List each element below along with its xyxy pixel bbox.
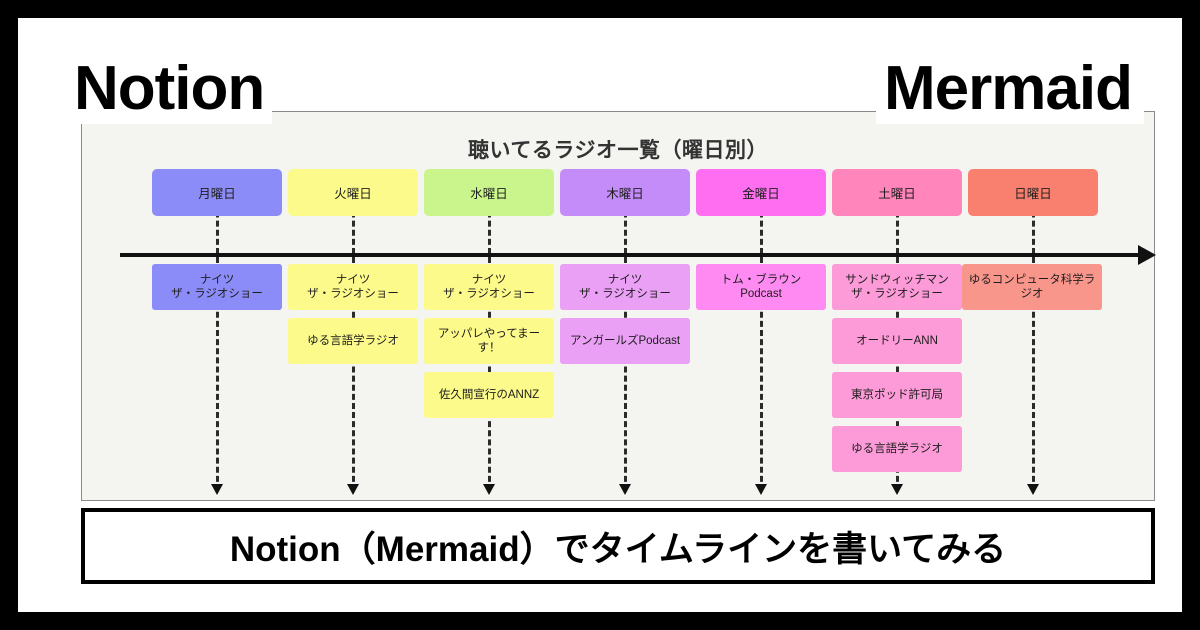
event-box-wednesday-3[interactable]: 佐久間宣行のANNZ — [424, 372, 554, 418]
event-box-tuesday-2[interactable]: ゆる言語学ラジオ — [288, 318, 418, 364]
mermaid-timeline-diagram: 聴いてるラジオ一覧（曜日別） 月曜日ナイツ ザ・ラジオショー火曜日ナイツ ザ・ラ… — [81, 111, 1155, 501]
diagram-title: 聴いてるラジオ一覧（曜日別） — [82, 134, 1154, 164]
event-box-thursday-1[interactable]: ナイツ ザ・ラジオショー — [560, 264, 690, 310]
event-box-tuesday-1[interactable]: ナイツ ザ・ラジオショー — [288, 264, 418, 310]
day-header-sunday[interactable]: 日曜日 — [968, 169, 1098, 216]
event-box-monday-1[interactable]: ナイツ ザ・ラジオショー — [152, 264, 282, 310]
timeline-dashed-line-sunday — [1032, 175, 1035, 491]
day-header-label: 月曜日 — [198, 183, 236, 202]
brand-notion: Notion — [62, 58, 272, 124]
timeline-dash-arrowhead-wednesday — [483, 484, 495, 495]
day-header-label: 金曜日 — [742, 183, 780, 202]
event-box-thursday-2[interactable]: アンガールズPodcast — [560, 318, 690, 364]
day-header-label: 火曜日 — [334, 183, 372, 202]
day-header-label: 木曜日 — [606, 183, 644, 202]
timeline-dashed-line-monday — [216, 175, 219, 491]
day-header-label: 土曜日 — [878, 183, 916, 202]
event-box-saturday-1[interactable]: サンドウィッチマン ザ・ラジオショー — [832, 264, 962, 310]
brand-mermaid: Mermaid — [876, 58, 1144, 124]
caption-text: Notion（Mermaid）でタイムラインを書いてみる — [230, 521, 1006, 572]
timeline-dash-arrowhead-saturday — [891, 484, 903, 495]
event-box-saturday-4[interactable]: ゆる言語学ラジオ — [832, 426, 962, 472]
day-header-saturday[interactable]: 土曜日 — [832, 169, 962, 216]
event-box-friday-1[interactable]: トム・ブラウンPodcast — [696, 264, 826, 310]
event-box-saturday-2[interactable]: オードリーANN — [832, 318, 962, 364]
day-header-friday[interactable]: 金曜日 — [696, 169, 826, 216]
white-page: 聴いてるラジオ一覧（曜日別） 月曜日ナイツ ザ・ラジオショー火曜日ナイツ ザ・ラ… — [18, 18, 1182, 612]
day-header-tuesday[interactable]: 火曜日 — [288, 169, 418, 216]
timeline-axis-line — [120, 253, 1145, 257]
event-box-sunday-1[interactable]: ゆるコンピュータ科学ラジオ — [962, 264, 1102, 310]
timeline-dashed-line-friday — [760, 175, 763, 491]
screenshot-canvas: 聴いてるラジオ一覧（曜日別） 月曜日ナイツ ザ・ラジオショー火曜日ナイツ ザ・ラ… — [0, 0, 1200, 630]
timeline-dash-arrowhead-thursday — [619, 484, 631, 495]
event-box-wednesday-2[interactable]: アッパレやってまーす！ — [424, 318, 554, 364]
day-header-label: 水曜日 — [470, 183, 508, 202]
caption-box: Notion（Mermaid）でタイムラインを書いてみる — [81, 508, 1155, 584]
event-box-saturday-3[interactable]: 東京ポッド許可局 — [832, 372, 962, 418]
day-header-thursday[interactable]: 木曜日 — [560, 169, 690, 216]
timeline-dash-arrowhead-monday — [211, 484, 223, 495]
timeline-dash-arrowhead-tuesday — [347, 484, 359, 495]
timeline-dash-arrowhead-sunday — [1027, 484, 1039, 495]
day-header-monday[interactable]: 月曜日 — [152, 169, 282, 216]
day-header-wednesday[interactable]: 水曜日 — [424, 169, 554, 216]
timeline-dash-arrowhead-friday — [755, 484, 767, 495]
timeline-axis-arrowhead — [1138, 245, 1156, 265]
day-header-label: 日曜日 — [1014, 183, 1052, 202]
event-box-wednesday-1[interactable]: ナイツ ザ・ラジオショー — [424, 264, 554, 310]
